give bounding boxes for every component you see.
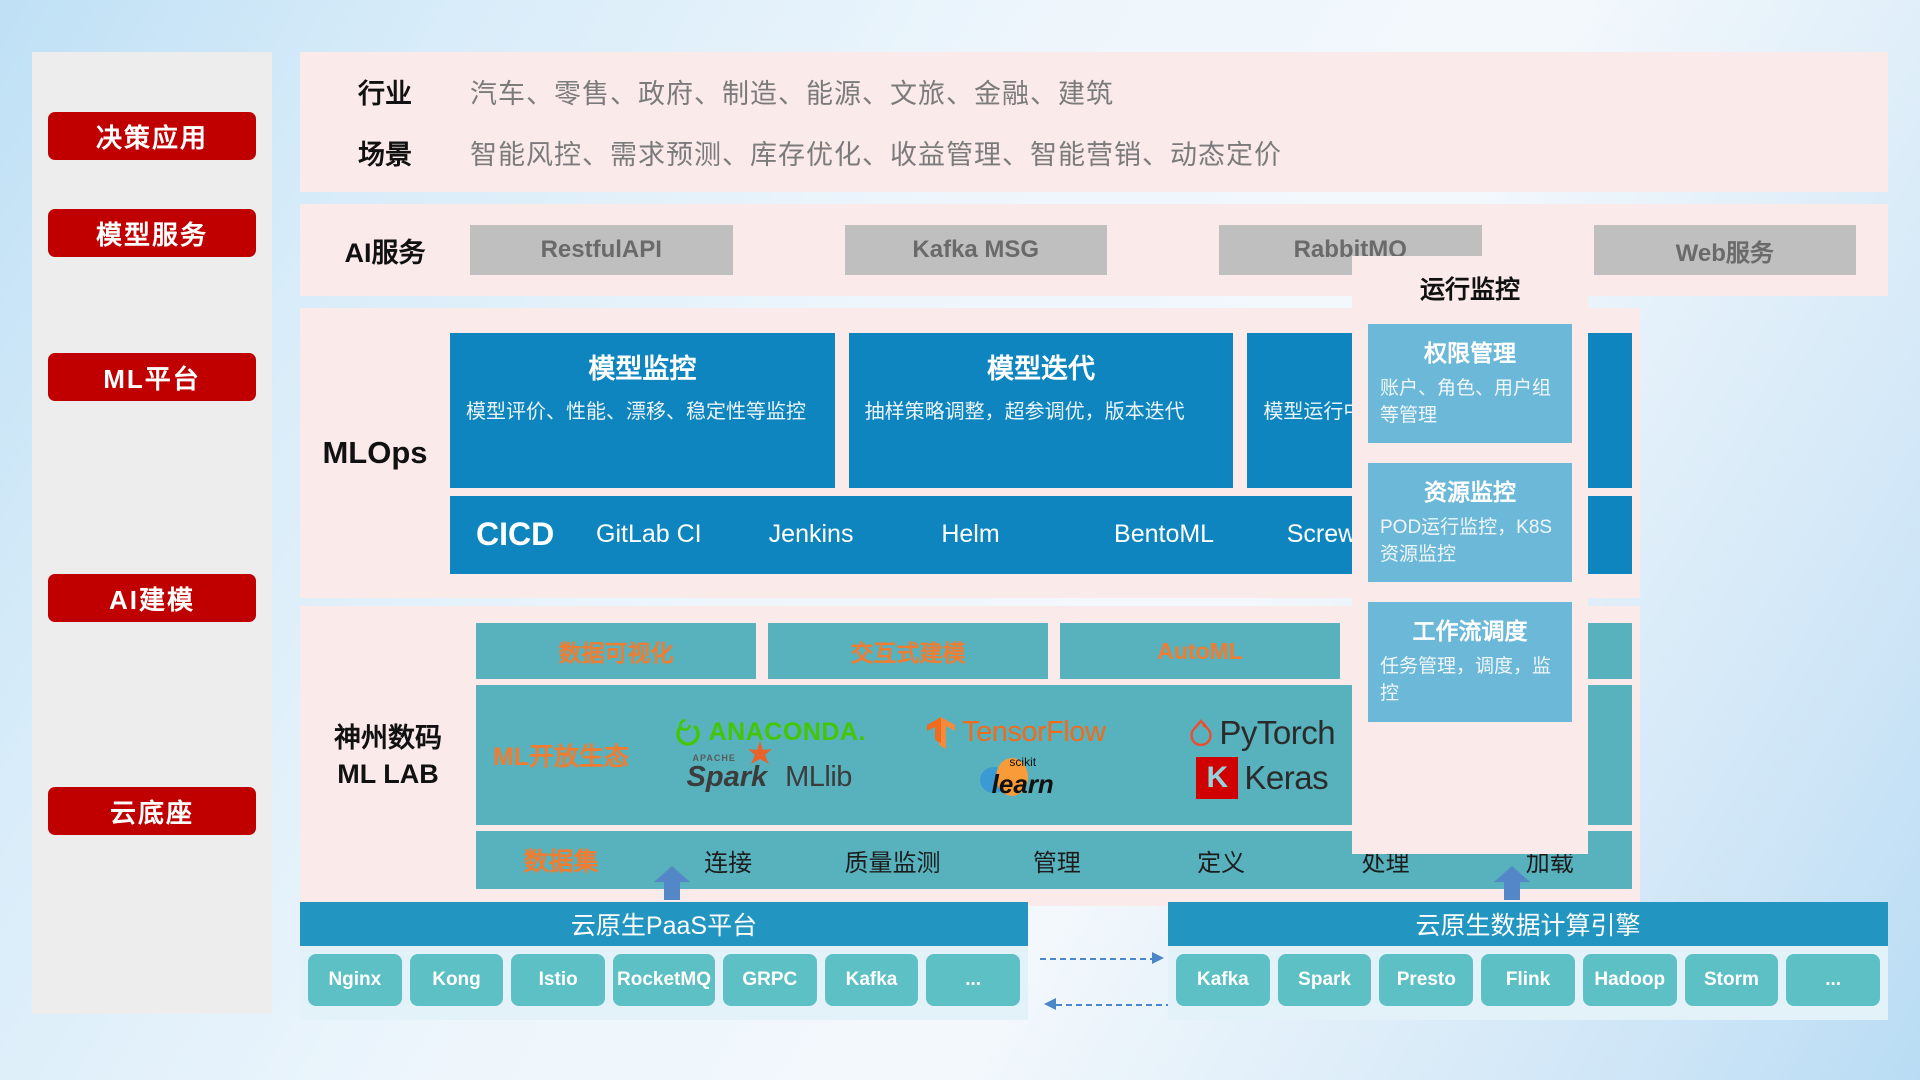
monitoring-card-resource[interactable]: 资源监控 POD运行监控，K8S资源监控	[1368, 463, 1572, 582]
paas-chip-nginx[interactable]: Nginx	[308, 954, 402, 1006]
decision-application-band: 行业 场景 汽车、零售、政府、制造、能源、文旅、金融、建筑 智能风控、需求预测、…	[300, 52, 1888, 192]
engine-chip-storm[interactable]: Storm	[1685, 954, 1779, 1006]
paas-chip-rocketmq[interactable]: RocketMQ	[613, 954, 715, 1006]
paas-chip-kong[interactable]: Kong	[410, 954, 504, 1006]
engine-chip-spark[interactable]: Spark	[1278, 954, 1372, 1006]
anaconda-wordmark: ANACONDA.	[709, 718, 866, 747]
runtime-monitoring-title: 运行监控	[1368, 270, 1572, 306]
lab-tool-automl[interactable]: AutoML	[1060, 623, 1340, 679]
mlops-card-model-iteration[interactable]: 模型迭代 抽样策略调整，超参调优，版本迭代	[849, 333, 1234, 488]
ml-ecosystem-label: ML开放生态	[476, 737, 646, 773]
lab-tool-interactive-modeling[interactable]: 交互式建模	[768, 623, 1048, 679]
keras-wordmark: Keras	[1244, 759, 1328, 797]
learn-text: learn	[992, 769, 1054, 800]
engine-chip-kafka[interactable]: Kafka	[1176, 954, 1270, 1006]
card-desc: POD运行监控，K8S资源监控	[1380, 515, 1560, 568]
ai-service-band: AI服务 RestfulAPI Kafka MSG RabbitMQ Web服务	[300, 204, 1888, 296]
card-desc: 任务管理，调度，监控	[1380, 654, 1560, 707]
keras-mark-icon: K	[1196, 757, 1238, 799]
pytorch-mark-icon	[1189, 718, 1213, 748]
card-title: 权限管理	[1380, 334, 1560, 368]
industry-list: 汽车、零售、政府、制造、能源、文旅、金融、建筑	[470, 72, 1114, 111]
stage-pill-ai-modeling[interactable]: AI建模	[48, 574, 256, 622]
engine-chip-more[interactable]: ...	[1786, 954, 1880, 1006]
ai-service-label: AI服务	[300, 231, 470, 270]
connector-to-engine	[1040, 958, 1156, 960]
stage-pill-ml-platform[interactable]: ML平台	[48, 353, 256, 401]
apps-side-labels: 行业 场景	[300, 72, 470, 172]
cicd-item-bentoml[interactable]: BentoML	[1114, 517, 1287, 553]
paas-title: 云原生PaaS平台	[300, 902, 1028, 946]
arrow-up-paas-icon	[650, 866, 694, 900]
cloud-base-section: 云原生PaaS平台 Nginx Kong Istio RocketMQ GRPC…	[300, 888, 1888, 1028]
stage-label: 决策应用	[96, 118, 208, 155]
engine-title: 云原生数据计算引擎	[1168, 902, 1888, 946]
engine-chip-presto[interactable]: Presto	[1379, 954, 1473, 1006]
dataset-item-quality[interactable]: 质量监测	[810, 843, 974, 878]
connector-to-paas	[1056, 1004, 1172, 1006]
cicd-item-helm[interactable]: Helm	[941, 517, 1114, 553]
card-desc: 账户、角色、用户组等管理	[1380, 376, 1560, 429]
spark-star-icon	[747, 741, 773, 767]
keras-mark-letter: K	[1207, 761, 1229, 795]
cloud-native-data-engine-group: 云原生数据计算引擎 Kafka Spark Presto Flink Hadoo…	[1168, 902, 1888, 1020]
cicd-item-jenkins[interactable]: Jenkins	[769, 517, 942, 553]
dataset-item-manage[interactable]: 管理	[975, 843, 1139, 878]
card-title: 模型迭代	[865, 347, 1218, 386]
scikit-learn-logo: scikit learn	[978, 755, 1054, 800]
tensorflow-wordmark: TensorFlow	[962, 716, 1105, 749]
mlops-card-model-monitoring[interactable]: 模型监控 模型评价、性能、漂移、稳定性等监控	[450, 333, 835, 488]
lab-tool-data-visualization[interactable]: 数据可视化	[476, 623, 756, 679]
service-chip-kafka-msg[interactable]: Kafka MSG	[845, 225, 1108, 275]
cicd-title: CICD	[476, 516, 596, 553]
spark-apache-text: APACHE	[693, 753, 736, 763]
pytorch-wordmark: PyTorch	[1219, 714, 1335, 752]
stage-pill-cloud-base[interactable]: 云底座	[48, 787, 256, 835]
scenario-label: 场景	[300, 133, 470, 172]
ml-lab-label: 神州数码 ML LAB	[300, 720, 476, 793]
scenario-list: 智能风控、需求预测、库存优化、收益管理、智能营销、动态定价	[470, 133, 1282, 172]
mllib-wordmark: MLlib	[785, 761, 852, 794]
connector-arrow-right-icon	[1152, 950, 1168, 966]
industry-label: 行业	[300, 72, 470, 111]
tensorflow-logo: TensorFlow	[926, 716, 1105, 750]
runtime-monitoring-panel: 运行监控 权限管理 账户、角色、用户组等管理 资源监控 POD运行监控，K8S资…	[1352, 256, 1588, 854]
card-title: 资源监控	[1380, 473, 1560, 507]
paas-chip-grpc[interactable]: GRPC	[723, 954, 817, 1006]
engine-chip-hadoop[interactable]: Hadoop	[1583, 954, 1677, 1006]
ml-lab-label-cn: 神州数码	[300, 720, 476, 756]
arrow-up-engine-icon	[1490, 866, 1534, 900]
keras-logo: K Keras	[1196, 757, 1328, 799]
paas-chip-kafka[interactable]: Kafka	[825, 954, 919, 1006]
cicd-item-gitlab-ci[interactable]: GitLab CI	[596, 517, 769, 553]
card-desc: 抽样策略调整，超参调优，版本迭代	[865, 398, 1218, 427]
pytorch-logo: PyTorch	[1189, 714, 1335, 752]
cloud-native-paas-group: 云原生PaaS平台 Nginx Kong Istio RocketMQ GRPC…	[300, 902, 1028, 1020]
stage-label: AI建模	[109, 580, 195, 617]
stage-rail: 决策应用 模型服务 ML平台 AI建模 云底座	[32, 52, 272, 1014]
service-chip-web[interactable]: Web服务	[1594, 225, 1857, 275]
stage-label: 云底座	[110, 793, 194, 830]
connector-arrow-left-icon	[1040, 996, 1056, 1012]
card-desc: 模型评价、性能、漂移、稳定性等监控	[466, 398, 819, 427]
stage-pill-decision[interactable]: 决策应用	[48, 112, 256, 160]
mlops-label: MLOps	[300, 435, 450, 471]
scikit-text: scikit	[992, 755, 1054, 769]
stage-pill-model-service[interactable]: 模型服务	[48, 209, 256, 257]
spark-mllib-logo: APACHE Spark MLlib	[687, 761, 852, 794]
stage-label: 模型服务	[96, 215, 208, 252]
monitoring-card-permission[interactable]: 权限管理 账户、角色、用户组等管理	[1368, 324, 1572, 443]
service-chip-restfulapi[interactable]: RestfulAPI	[470, 225, 733, 275]
stage-label: ML平台	[103, 359, 201, 396]
tensorflow-mark-icon	[926, 716, 956, 750]
card-title: 工作流调度	[1380, 612, 1560, 646]
dataset-item-define[interactable]: 定义	[1139, 843, 1303, 878]
monitoring-card-workflow[interactable]: 工作流调度 任务管理，调度，监控	[1368, 602, 1572, 721]
paas-chip-more[interactable]: ...	[926, 954, 1020, 1006]
ml-lab-label-en: ML LAB	[300, 756, 476, 792]
dataset-label: 数据集	[476, 842, 646, 878]
anaconda-mark-icon	[673, 718, 703, 748]
card-title: 模型监控	[466, 347, 819, 386]
engine-chip-flink[interactable]: Flink	[1481, 954, 1575, 1006]
paas-chip-istio[interactable]: Istio	[511, 954, 605, 1006]
